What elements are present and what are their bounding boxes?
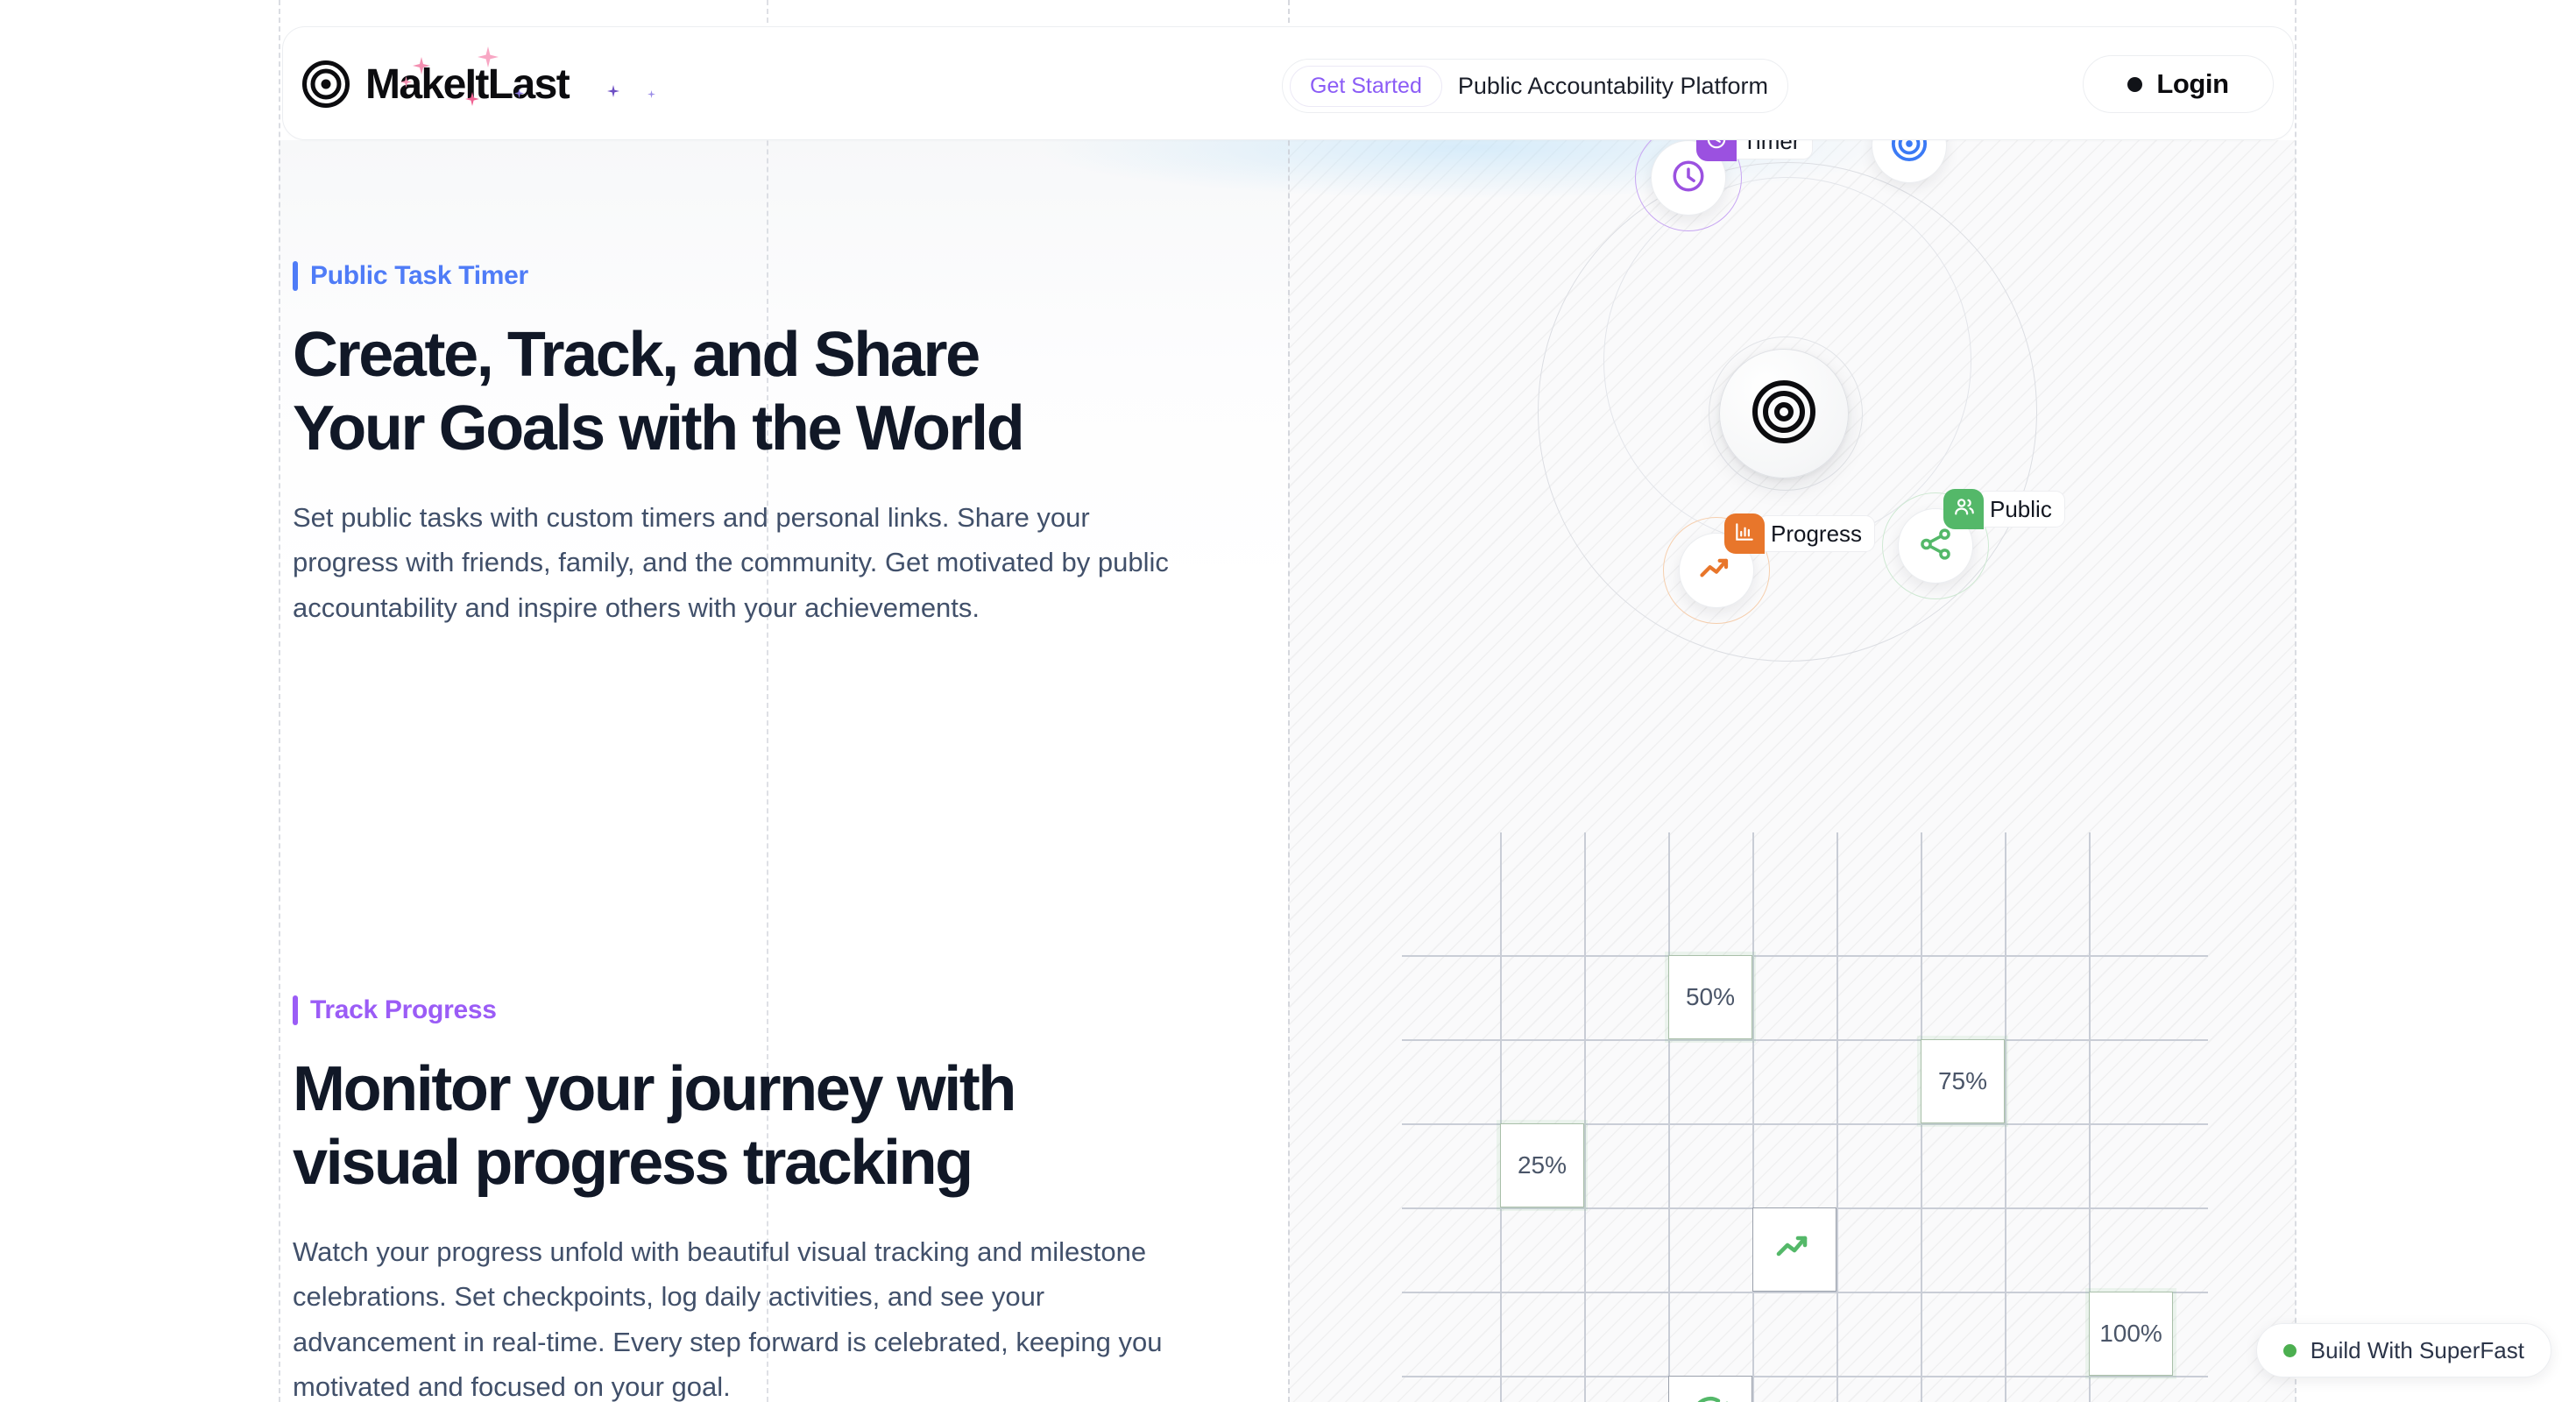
section-body-text: Watch your progress unfold with beautifu…: [293, 1229, 1195, 1402]
section-public-task-timer: Public Task Timer Create, Track, and Sha…: [293, 261, 1204, 630]
build-with-superfast-badge[interactable]: Build With SuperFast: [2256, 1323, 2551, 1377]
grid-line-vertical: [1584, 832, 1586, 1402]
status-dot-icon: [2127, 77, 2142, 92]
grid-line-vertical: [1500, 832, 1502, 1402]
trending-up-icon: [1773, 1226, 1815, 1274]
sparkle-icon: [648, 90, 655, 98]
share-nodes-icon: [1917, 526, 1954, 567]
grid-line-horizontal: [1402, 1376, 2208, 1377]
milestone-cell[interactable]: 100%: [2089, 1292, 2173, 1376]
milestone-cell[interactable]: 25%: [1500, 1123, 1584, 1207]
node-badge: [1943, 489, 1984, 529]
bullseye-target-icon: [1752, 379, 1816, 449]
section-track-progress: Track Progress Monitor your journey with…: [293, 995, 1204, 1402]
title-line-2: visual progress tracking: [293, 1127, 1204, 1200]
site-header: MakeItLast Get Started: [282, 26, 2294, 140]
grid-line-horizontal: [1402, 955, 2208, 957]
eyebrow-label: Track Progress: [310, 995, 497, 1025]
section-eyebrow: Track Progress: [293, 995, 1204, 1025]
grid-line-horizontal: [1402, 1039, 2208, 1041]
diagram-node-public[interactable]: Public: [1898, 508, 1973, 584]
diagram-node-progress[interactable]: Progress: [1679, 533, 1754, 608]
grid-line-vertical: [1836, 832, 1838, 1402]
badge-label: Build With SuperFast: [2311, 1337, 2524, 1364]
login-button[interactable]: Login: [2083, 55, 2274, 113]
eyebrow-accent-bar: [293, 261, 298, 291]
sparkle-icon: [607, 85, 619, 97]
radial-feature-diagram: Timer Goals: [1490, 140, 2103, 736]
title-line-1: Create, Track, and Share: [293, 319, 1204, 393]
header-center-pill: Get Started Public Accountability Platfo…: [1282, 59, 1788, 113]
platform-tagline: Public Accountability Platform: [1458, 73, 1768, 100]
grid-line-vertical: [1752, 832, 1754, 1402]
node-label-chip: Progress: [1758, 515, 1875, 552]
milestone-cell-complete[interactable]: [1668, 1376, 1752, 1402]
section-body-text: Set public tasks with custom timers and …: [293, 495, 1195, 630]
progress-milestone-grid: 50% 75% 25% 100%: [1402, 815, 2208, 1402]
eyebrow-label: Public Task Timer: [310, 261, 528, 291]
section-eyebrow: Public Task Timer: [293, 261, 1204, 291]
trending-up-icon: [1697, 549, 1736, 592]
bar-chart-icon: [1733, 520, 1756, 548]
diagram-node-timer[interactable]: Timer: [1651, 140, 1726, 216]
check-circle-icon: [1689, 1394, 1731, 1402]
node-badge: [1724, 513, 1765, 554]
node-label-chip: Public: [1977, 491, 2065, 528]
title-line-2: Your Goals with the World: [293, 393, 1204, 466]
milestone-cell[interactable]: 75%: [1921, 1039, 2005, 1123]
status-dot-icon: [2283, 1344, 2296, 1357]
clock-icon: [1670, 158, 1707, 199]
grid-line-horizontal: [1402, 1292, 2208, 1293]
milestone-cell-trending[interactable]: [1752, 1207, 1836, 1292]
users-icon: [1952, 495, 1976, 523]
grid-line-vertical: [1668, 832, 1670, 1402]
brand-logo[interactable]: MakeItLast: [302, 27, 569, 141]
page-root: MakeItLast Get Started: [0, 0, 2576, 1402]
diagram-hub[interactable]: [1719, 349, 1849, 478]
title-line-1: Monitor your journey with: [293, 1053, 1204, 1127]
section-heading: Monitor your journey with visual progres…: [293, 1053, 1204, 1200]
brand-name: MakeItLast: [365, 60, 569, 109]
eyebrow-accent-bar: [293, 995, 298, 1025]
login-label: Login: [2156, 68, 2228, 100]
grid-line-vertical: [2005, 832, 2006, 1402]
get-started-button[interactable]: Get Started: [1290, 66, 1442, 107]
bullseye-target-icon: [302, 60, 350, 108]
page-title: Create, Track, and Share Your Goals with…: [293, 319, 1204, 465]
milestone-cell[interactable]: 50%: [1668, 955, 1752, 1039]
